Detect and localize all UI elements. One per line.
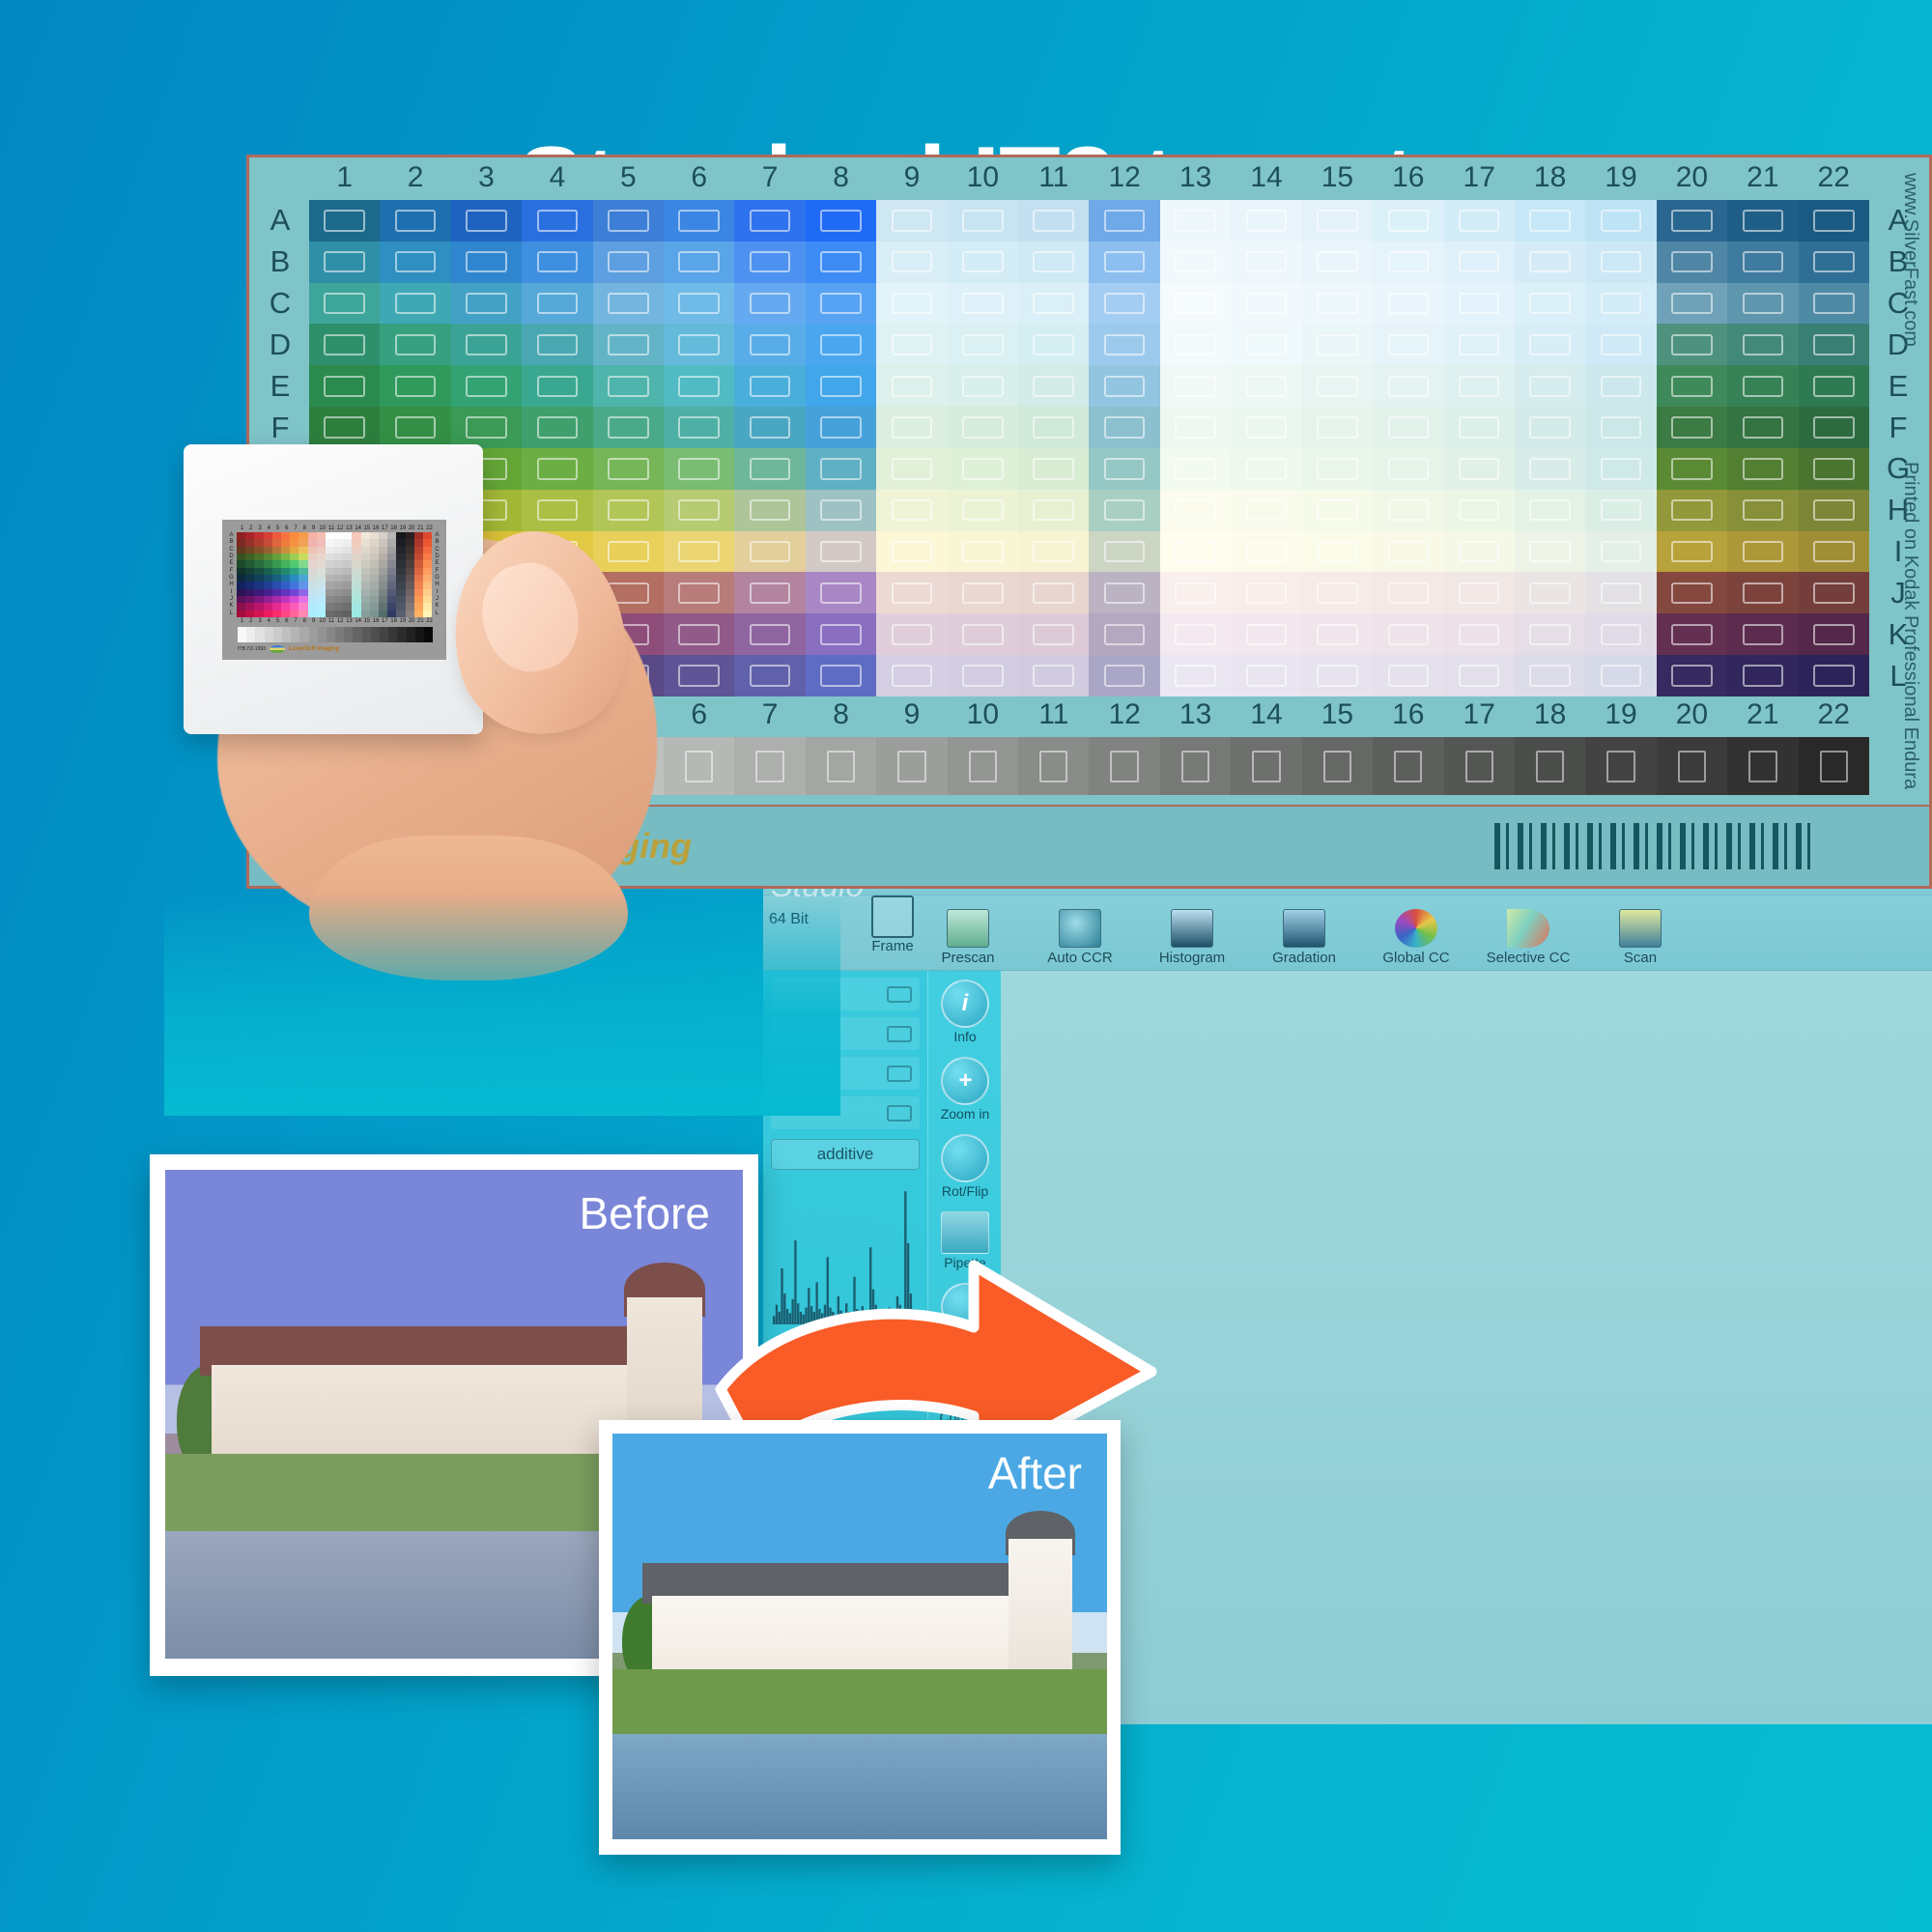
it8-patch-A6[interactable] xyxy=(664,200,734,241)
it8-patch-marker xyxy=(1175,499,1216,521)
it8-patch-A4[interactable] xyxy=(522,200,592,241)
it8-patch-A2[interactable] xyxy=(380,200,450,241)
it8-patch-A21[interactable] xyxy=(1727,200,1798,241)
it8-patch-F18[interactable] xyxy=(1515,407,1585,448)
it8-patch-G20[interactable] xyxy=(1657,448,1727,490)
it8-patch-I16[interactable] xyxy=(1373,531,1443,573)
it8-patch-I11[interactable] xyxy=(1018,531,1089,573)
it8-patch-B3[interactable] xyxy=(451,241,522,283)
slide-patch xyxy=(308,554,317,560)
it8-patch-B20[interactable] xyxy=(1657,241,1727,283)
it8-patch-A22[interactable] xyxy=(1799,200,1869,241)
toolbar-button-histogram[interactable]: Histogram xyxy=(1147,909,1237,970)
it8-patch-K9[interactable] xyxy=(876,613,947,655)
slide-patch xyxy=(406,611,414,617)
it8-patch-J19[interactable] xyxy=(1585,572,1656,613)
slide-patch xyxy=(254,547,263,554)
it8-patch-L13[interactable] xyxy=(1160,655,1231,696)
it8-patch-L10[interactable] xyxy=(948,655,1018,696)
it8-patch-D7[interactable] xyxy=(734,324,805,365)
tool-info[interactable]: iInfo xyxy=(928,971,1002,1048)
it8-column-label: 13 xyxy=(1160,161,1231,198)
slide-patch xyxy=(370,582,379,588)
it8-patch-E10[interactable] xyxy=(948,365,1018,407)
app-toolbar[interactable]: PrescanAuto CCRHistogramGradationGlobal … xyxy=(763,895,1932,971)
it8-patch-E7[interactable] xyxy=(734,365,805,407)
slide-patch xyxy=(343,575,352,582)
it8-patch-J16[interactable] xyxy=(1373,572,1443,613)
it8-patch-C2[interactable] xyxy=(380,283,450,325)
it8-patch-J15[interactable] xyxy=(1302,572,1373,613)
it8-patch-K20[interactable] xyxy=(1657,613,1727,655)
frame-button[interactable]: Frame xyxy=(866,895,920,954)
it8-patch-I9[interactable] xyxy=(876,531,947,573)
it8-patch-E21[interactable] xyxy=(1727,365,1798,407)
it8-patch-A11[interactable] xyxy=(1018,200,1089,241)
it8-patch-C22[interactable] xyxy=(1799,283,1869,325)
slide-patch xyxy=(237,603,245,610)
it8-patch-F11[interactable] xyxy=(1018,407,1089,448)
slide-patch xyxy=(264,589,272,596)
it8-patch-B18[interactable] xyxy=(1515,241,1585,283)
it8-patch-I12[interactable] xyxy=(1089,531,1159,573)
it8-patch-I22[interactable] xyxy=(1799,531,1869,573)
it8-patch-marker xyxy=(1317,499,1358,521)
it8-patch-D9[interactable] xyxy=(876,324,947,365)
it8-patch-G14[interactable] xyxy=(1231,448,1301,490)
it8-patch-A18[interactable] xyxy=(1515,200,1585,241)
it8-patch-marker xyxy=(962,665,1004,686)
it8-patch-G19[interactable] xyxy=(1585,448,1656,490)
it8-patch-C6[interactable] xyxy=(664,283,734,325)
it8-patch-I20[interactable] xyxy=(1657,531,1727,573)
it8-patch-L21[interactable] xyxy=(1727,655,1798,696)
it8-patch-A13[interactable] xyxy=(1160,200,1231,241)
it8-patch-H12[interactable] xyxy=(1089,490,1159,531)
it8-column-label: 15 xyxy=(1302,161,1373,198)
it8-patch-K19[interactable] xyxy=(1585,613,1656,655)
it8-patch-F22[interactable] xyxy=(1799,407,1869,448)
it8-patch-J10[interactable] xyxy=(948,572,1018,613)
it8-patch-A3[interactable] xyxy=(451,200,522,241)
it8-patch-D16[interactable] xyxy=(1373,324,1443,365)
it8-patch-H14[interactable] xyxy=(1231,490,1301,531)
it8-patch-B10[interactable] xyxy=(948,241,1018,283)
it8-patch-I17[interactable] xyxy=(1444,531,1515,573)
it8-gray-patch-9[interactable] xyxy=(876,737,947,795)
it8-patch-E6[interactable] xyxy=(664,365,734,407)
it8-patch-H15[interactable] xyxy=(1302,490,1373,531)
it8-patch-G11[interactable] xyxy=(1018,448,1089,490)
it8-patch-C14[interactable] xyxy=(1231,283,1301,325)
it8-patch-G16[interactable] xyxy=(1373,448,1443,490)
it8-patch-marker xyxy=(1104,251,1146,272)
it8-patch-K22[interactable] xyxy=(1799,613,1869,655)
it8-patch-H17[interactable] xyxy=(1444,490,1515,531)
slide-patch xyxy=(298,547,307,554)
it8-patch-C15[interactable] xyxy=(1302,283,1373,325)
it8-patch-J18[interactable] xyxy=(1515,572,1585,613)
it8-patch-G13[interactable] xyxy=(1160,448,1231,490)
it8-patch-B8[interactable] xyxy=(806,241,876,283)
it8-patch-J20[interactable] xyxy=(1657,572,1727,613)
it8-patch-F12[interactable] xyxy=(1089,407,1159,448)
it8-patch-G10[interactable] xyxy=(948,448,1018,490)
it8-patch-L15[interactable] xyxy=(1302,655,1373,696)
it8-patch-B7[interactable] xyxy=(734,241,805,283)
it8-patch-H10[interactable] xyxy=(948,490,1018,531)
it8-gray-patch-21[interactable] xyxy=(1727,737,1798,795)
it8-patch-marker xyxy=(1175,293,1216,314)
it8-patch-D11[interactable] xyxy=(1018,324,1089,365)
it8-patch-E8[interactable] xyxy=(806,365,876,407)
it8-patch-G17[interactable] xyxy=(1444,448,1515,490)
it8-patch-H16[interactable] xyxy=(1373,490,1443,531)
it8-patch-E2[interactable] xyxy=(380,365,450,407)
it8-patch-K15[interactable] xyxy=(1302,613,1373,655)
it8-patch-B2[interactable] xyxy=(380,241,450,283)
toolbar-button-label: Global CC xyxy=(1371,950,1462,966)
it8-patch-G18[interactable] xyxy=(1515,448,1585,490)
it8-patch-C5[interactable] xyxy=(593,283,664,325)
it8-patch-A15[interactable] xyxy=(1302,200,1373,241)
it8-gray-patch-20[interactable] xyxy=(1657,737,1727,795)
it8-patch-E18[interactable] xyxy=(1515,365,1585,407)
it8-patch-E14[interactable] xyxy=(1231,365,1301,407)
it8-patch-marker xyxy=(1601,582,1642,604)
it8-patch-B17[interactable] xyxy=(1444,241,1515,283)
it8-patch-C16[interactable] xyxy=(1373,283,1443,325)
it8-gray-marker xyxy=(897,751,925,782)
it8-patch-G22[interactable] xyxy=(1799,448,1869,490)
it8-patch-J9[interactable] xyxy=(876,572,947,613)
it8-column-label: 21 xyxy=(1727,698,1798,735)
it8-row-label: D xyxy=(253,324,307,365)
it8-patch-C4[interactable] xyxy=(522,283,592,325)
it8-patch-G15[interactable] xyxy=(1302,448,1373,490)
it8-patch-J13[interactable] xyxy=(1160,572,1231,613)
it8-patch-E16[interactable] xyxy=(1373,365,1443,407)
it8-patch-marker xyxy=(1601,499,1642,521)
it8-patch-D15[interactable] xyxy=(1302,324,1373,365)
it8-patch-L17[interactable] xyxy=(1444,655,1515,696)
toolbar-button-auto-ccr[interactable]: Auto CCR xyxy=(1035,909,1125,970)
slide-row-label: E xyxy=(432,560,442,567)
it8-gray-patch-10[interactable] xyxy=(948,737,1018,795)
histogram-mode-select[interactable]: additive xyxy=(771,1139,920,1170)
it8-gray-patch-13[interactable] xyxy=(1160,737,1231,795)
it8-patch-A5[interactable] xyxy=(593,200,664,241)
it8-patch-D5[interactable] xyxy=(593,324,664,365)
slide-row-label: D xyxy=(432,554,442,560)
slide-patch xyxy=(237,568,245,575)
slide-patch xyxy=(370,547,379,554)
it8-patch-F20[interactable] xyxy=(1657,407,1727,448)
slide-gray-patch xyxy=(388,627,397,642)
it8-patch-D22[interactable] xyxy=(1799,324,1869,365)
it8-patch-D13[interactable] xyxy=(1160,324,1231,365)
it8-patch-marker xyxy=(1459,499,1500,521)
it8-patch-E3[interactable] xyxy=(451,365,522,407)
it8-patch-B5[interactable] xyxy=(593,241,664,283)
it8-patch-B4[interactable] xyxy=(522,241,592,283)
it8-patch-D14[interactable] xyxy=(1231,324,1301,365)
it8-patch-A8[interactable] xyxy=(806,200,876,241)
it8-patch-C19[interactable] xyxy=(1585,283,1656,325)
slide-patch xyxy=(317,539,326,546)
it8-patch-J17[interactable] xyxy=(1444,572,1515,613)
it8-patch-D6[interactable] xyxy=(664,324,734,365)
it8-patch-D10[interactable] xyxy=(948,324,1018,365)
it8-patch-H22[interactable] xyxy=(1799,490,1869,531)
it8-patch-H19[interactable] xyxy=(1585,490,1656,531)
it8-patch-G9[interactable] xyxy=(876,448,947,490)
it8-patch-B12[interactable] xyxy=(1089,241,1159,283)
it8-gray-patch-19[interactable] xyxy=(1585,737,1656,795)
it8-patch-B11[interactable] xyxy=(1018,241,1089,283)
it8-patch-G21[interactable] xyxy=(1727,448,1798,490)
it8-patch-marker xyxy=(1388,416,1430,438)
it8-patch-F9[interactable] xyxy=(876,407,947,448)
it8-patch-H13[interactable] xyxy=(1160,490,1231,531)
it8-patch-F14[interactable] xyxy=(1231,407,1301,448)
it8-patch-D1[interactable] xyxy=(309,324,380,365)
it8-patch-H11[interactable] xyxy=(1018,490,1089,531)
it8-patch-C8[interactable] xyxy=(806,283,876,325)
it8-patch-marker xyxy=(1529,624,1571,645)
it8-patch-E22[interactable] xyxy=(1799,365,1869,407)
it8-patch-B9[interactable] xyxy=(876,241,947,283)
it8-patch-J22[interactable] xyxy=(1799,572,1869,613)
it8-patch-D17[interactable] xyxy=(1444,324,1515,365)
slide-row-label: A xyxy=(226,532,237,539)
it8-patch-B6[interactable] xyxy=(664,241,734,283)
it8-patch-K16[interactable] xyxy=(1373,613,1443,655)
it8-patch-H21[interactable] xyxy=(1727,490,1798,531)
it8-patch-D19[interactable] xyxy=(1585,324,1656,365)
it8-patch-C7[interactable] xyxy=(734,283,805,325)
it8-patch-J21[interactable] xyxy=(1727,572,1798,613)
it8-patch-G12[interactable] xyxy=(1089,448,1159,490)
it8-patch-C17[interactable] xyxy=(1444,283,1515,325)
it8-patch-L18[interactable] xyxy=(1515,655,1585,696)
it8-gray-patch-11[interactable] xyxy=(1018,737,1089,795)
it8-gray-patch-18[interactable] xyxy=(1515,737,1585,795)
it8-column-label: 3 xyxy=(451,161,522,198)
it8-patch-A14[interactable] xyxy=(1231,200,1301,241)
it8-patch-C21[interactable] xyxy=(1727,283,1798,325)
it8-patch-K12[interactable] xyxy=(1089,613,1159,655)
it8-patch-L12[interactable] xyxy=(1089,655,1159,696)
it8-patch-K10[interactable] xyxy=(948,613,1018,655)
it8-patch-C13[interactable] xyxy=(1160,283,1231,325)
it8-patch-E11[interactable] xyxy=(1018,365,1089,407)
it8-patch-D4[interactable] xyxy=(522,324,592,365)
it8-patch-C12[interactable] xyxy=(1089,283,1159,325)
it8-patch-E9[interactable] xyxy=(876,365,947,407)
it8-patch-C11[interactable] xyxy=(1018,283,1089,325)
slide-lasersoft-logo-icon xyxy=(270,645,285,653)
it8-patch-K17[interactable] xyxy=(1444,613,1515,655)
slide-patch xyxy=(245,596,254,603)
it8-patch-C1[interactable] xyxy=(309,283,380,325)
it8-patch-I10[interactable] xyxy=(948,531,1018,573)
it8-patch-A16[interactable] xyxy=(1373,200,1443,241)
it8-patch-marker xyxy=(1813,210,1855,231)
slide-gray-patch xyxy=(255,627,264,642)
it8-patch-L14[interactable] xyxy=(1231,655,1301,696)
it8-patch-F17[interactable] xyxy=(1444,407,1515,448)
it8-patch-D12[interactable] xyxy=(1089,324,1159,365)
it8-gray-patch-12[interactable] xyxy=(1089,737,1159,795)
it8-patch-A7[interactable] xyxy=(734,200,805,241)
it8-patch-D8[interactable] xyxy=(806,324,876,365)
toolbar-button-global-cc[interactable]: Global CC xyxy=(1371,909,1462,970)
toolbar-button-scan[interactable]: Scan xyxy=(1595,909,1686,970)
it8-patch-E19[interactable] xyxy=(1585,365,1656,407)
slide-patch-row xyxy=(237,582,432,588)
it8-patch-A20[interactable] xyxy=(1657,200,1727,241)
slide-patch xyxy=(326,539,334,546)
it8-patch-marker xyxy=(1175,541,1216,562)
slide-column-label: 22 xyxy=(425,525,434,532)
it8-patch-marker xyxy=(1388,458,1430,479)
it8-patch-C20[interactable] xyxy=(1657,283,1727,325)
it8-patch-D3[interactable] xyxy=(451,324,522,365)
it8-patch-A12[interactable] xyxy=(1089,200,1159,241)
it8-patch-marker xyxy=(395,376,437,397)
it8-patch-J14[interactable] xyxy=(1231,572,1301,613)
it8-patch-F15[interactable] xyxy=(1302,407,1373,448)
it8-patch-F19[interactable] xyxy=(1585,407,1656,448)
it8-patch-C3[interactable] xyxy=(451,283,522,325)
it8-patch-B15[interactable] xyxy=(1302,241,1373,283)
it8-patch-marker xyxy=(1813,334,1855,355)
it8-patch-F10[interactable] xyxy=(948,407,1018,448)
after-photo[interactable]: After xyxy=(599,1420,1121,1855)
it8-patch-C10[interactable] xyxy=(948,283,1018,325)
slide-row-label: E xyxy=(226,560,237,567)
it8-patch-B1[interactable] xyxy=(309,241,380,283)
it8-patch-C9[interactable] xyxy=(876,283,947,325)
it8-patch-L20[interactable] xyxy=(1657,655,1727,696)
it8-patch-L9[interactable] xyxy=(876,655,947,696)
it8-patch-D21[interactable] xyxy=(1727,324,1798,365)
slide-patch xyxy=(264,532,272,539)
it8-patch-I14[interactable] xyxy=(1231,531,1301,573)
it8-patch-D2[interactable] xyxy=(380,324,450,365)
it8-patch-E13[interactable] xyxy=(1160,365,1231,407)
it8-patch-L19[interactable] xyxy=(1585,655,1656,696)
it8-patch-marker xyxy=(1671,210,1713,231)
it8-patch-K14[interactable] xyxy=(1231,613,1301,655)
toolbar-button-gradation[interactable]: Gradation xyxy=(1259,909,1350,970)
it8-patch-H20[interactable] xyxy=(1657,490,1727,531)
it8-patch-H18[interactable] xyxy=(1515,490,1585,531)
it8-patch-A9[interactable] xyxy=(876,200,947,241)
it8-patch-B19[interactable] xyxy=(1585,241,1656,283)
it8-patch-K21[interactable] xyxy=(1727,613,1798,655)
it8-patch-J11[interactable] xyxy=(1018,572,1089,613)
it8-patch-I19[interactable] xyxy=(1585,531,1656,573)
it8-patch-H9[interactable] xyxy=(876,490,947,531)
it8-patch-A10[interactable] xyxy=(948,200,1018,241)
it8-gray-patch-17[interactable] xyxy=(1444,737,1515,795)
it8-patch-K11[interactable] xyxy=(1018,613,1089,655)
it8-patch-E17[interactable] xyxy=(1444,365,1515,407)
it8-patch-I13[interactable] xyxy=(1160,531,1231,573)
toolbar-button-selective-cc[interactable]: Selective CC xyxy=(1483,909,1574,970)
it8-gray-patch-15[interactable] xyxy=(1302,737,1373,795)
slide-patch xyxy=(317,596,326,603)
it8-patch-B14[interactable] xyxy=(1231,241,1301,283)
it8-patch-C18[interactable] xyxy=(1515,283,1585,325)
it8-patch-D18[interactable] xyxy=(1515,324,1585,365)
slide-patch xyxy=(326,611,334,617)
it8-patch-L11[interactable] xyxy=(1018,655,1089,696)
it8-patch-E1[interactable] xyxy=(309,365,380,407)
it8-patch-marker xyxy=(892,541,933,562)
it8-patch-F16[interactable] xyxy=(1373,407,1443,448)
it8-patch-E15[interactable] xyxy=(1302,365,1373,407)
it8-gray-patch-16[interactable] xyxy=(1373,737,1443,795)
it8-patch-E4[interactable] xyxy=(522,365,592,407)
it8-patch-I18[interactable] xyxy=(1515,531,1585,573)
slide-iso-text: ITB.7/2-1993 xyxy=(238,646,266,652)
it8-patch-A1[interactable] xyxy=(309,200,380,241)
slide-patch xyxy=(272,575,281,582)
tool-zoom-in[interactable]: +Zoom in xyxy=(928,1048,1002,1125)
it8-patch-K18[interactable] xyxy=(1515,613,1585,655)
it8-patch-I15[interactable] xyxy=(1302,531,1373,573)
it8-patch-B16[interactable] xyxy=(1373,241,1443,283)
it8-patch-B13[interactable] xyxy=(1160,241,1231,283)
it8-patch-L22[interactable] xyxy=(1799,655,1869,696)
slide-patch xyxy=(387,575,396,582)
it8-gray-patch-22[interactable] xyxy=(1799,737,1869,795)
it8-patch-F21[interactable] xyxy=(1727,407,1798,448)
slide-patch-row xyxy=(237,596,432,603)
it8-patch-F13[interactable] xyxy=(1160,407,1231,448)
it8-patch-marker xyxy=(1671,624,1713,645)
it8-patch-E12[interactable] xyxy=(1089,365,1159,407)
it8-patch-A19[interactable] xyxy=(1585,200,1656,241)
it8-patch-L16[interactable] xyxy=(1373,655,1443,696)
it8-patch-D20[interactable] xyxy=(1657,324,1727,365)
it8-patch-K13[interactable] xyxy=(1160,613,1231,655)
it8-patch-J12[interactable] xyxy=(1089,572,1159,613)
it8-patch-marker xyxy=(1529,665,1571,686)
it8-patch-marker xyxy=(1246,416,1288,438)
slide-patch xyxy=(387,603,396,610)
it8-patch-B22[interactable] xyxy=(1799,241,1869,283)
it8-patch-I21[interactable] xyxy=(1727,531,1798,573)
slide-patch xyxy=(298,596,307,603)
slide-row-label: C xyxy=(432,547,442,554)
it8-patch-E5[interactable] xyxy=(593,365,664,407)
toolbar-button-prescan[interactable]: Prescan xyxy=(923,909,1013,970)
it8-gray-patch-14[interactable] xyxy=(1231,737,1301,795)
it8-patch-A17[interactable] xyxy=(1444,200,1515,241)
slide-patch xyxy=(298,582,307,588)
toolbar-button-label: Prescan xyxy=(923,950,1013,966)
it8-patch-E20[interactable] xyxy=(1657,365,1727,407)
it8-patch-B21[interactable] xyxy=(1727,241,1798,283)
slide-patch xyxy=(326,603,334,610)
tool-rot-flip[interactable]: Rot/Flip xyxy=(928,1125,1002,1203)
slide-column-numbers-bottom: 12345678910111213141516171819202122 xyxy=(238,617,434,625)
slide-patch xyxy=(245,582,254,588)
